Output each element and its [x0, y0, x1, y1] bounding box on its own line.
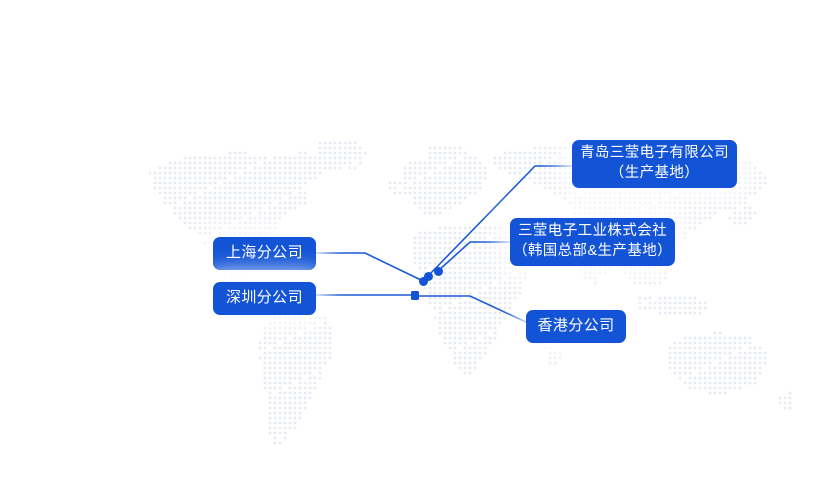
connector-line-shanghai — [316, 253, 423, 281]
location-label-korea-hq[interactable]: 三莹电子工业株式会社（韩国总部&生产基地） — [510, 218, 675, 266]
world-map-infographic: 青岛三莹电子有限公司（生产基地）三莹电子工业株式会社（韩国总部&生产基地）上海分… — [0, 0, 824, 480]
location-label-korea-hq-line-2: （韩国总部&生产基地） — [513, 242, 672, 262]
location-label-korea-hq-line-1: 三莹电子工业株式会社 — [518, 222, 667, 242]
location-label-shanghai-line-1: 上海分公司 — [226, 243, 303, 263]
location-label-shanghai[interactable]: 上海分公司 — [213, 237, 316, 270]
map-marker-shanghai[interactable] — [419, 277, 428, 286]
location-label-shenzhen[interactable]: 深圳分公司 — [213, 282, 316, 315]
location-label-qingdao[interactable]: 青岛三莹电子有限公司（生产基地） — [572, 140, 737, 188]
location-label-qingdao-line-2: （生产基地） — [610, 164, 699, 184]
connector-line-korea-hq — [438, 242, 510, 271]
connector-line-hongkong — [417, 296, 526, 322]
location-label-shenzhen-line-1: 深圳分公司 — [226, 288, 303, 308]
location-label-hongkong-line-1: 香港分公司 — [537, 316, 614, 336]
connector-line-layer — [0, 0, 824, 480]
location-label-hongkong[interactable]: 香港分公司 — [526, 310, 626, 343]
location-label-qingdao-line-1: 青岛三莹电子有限公司 — [580, 144, 729, 164]
map-marker-hongkong[interactable] — [411, 291, 419, 300]
map-marker-korea-hq[interactable] — [434, 267, 443, 276]
